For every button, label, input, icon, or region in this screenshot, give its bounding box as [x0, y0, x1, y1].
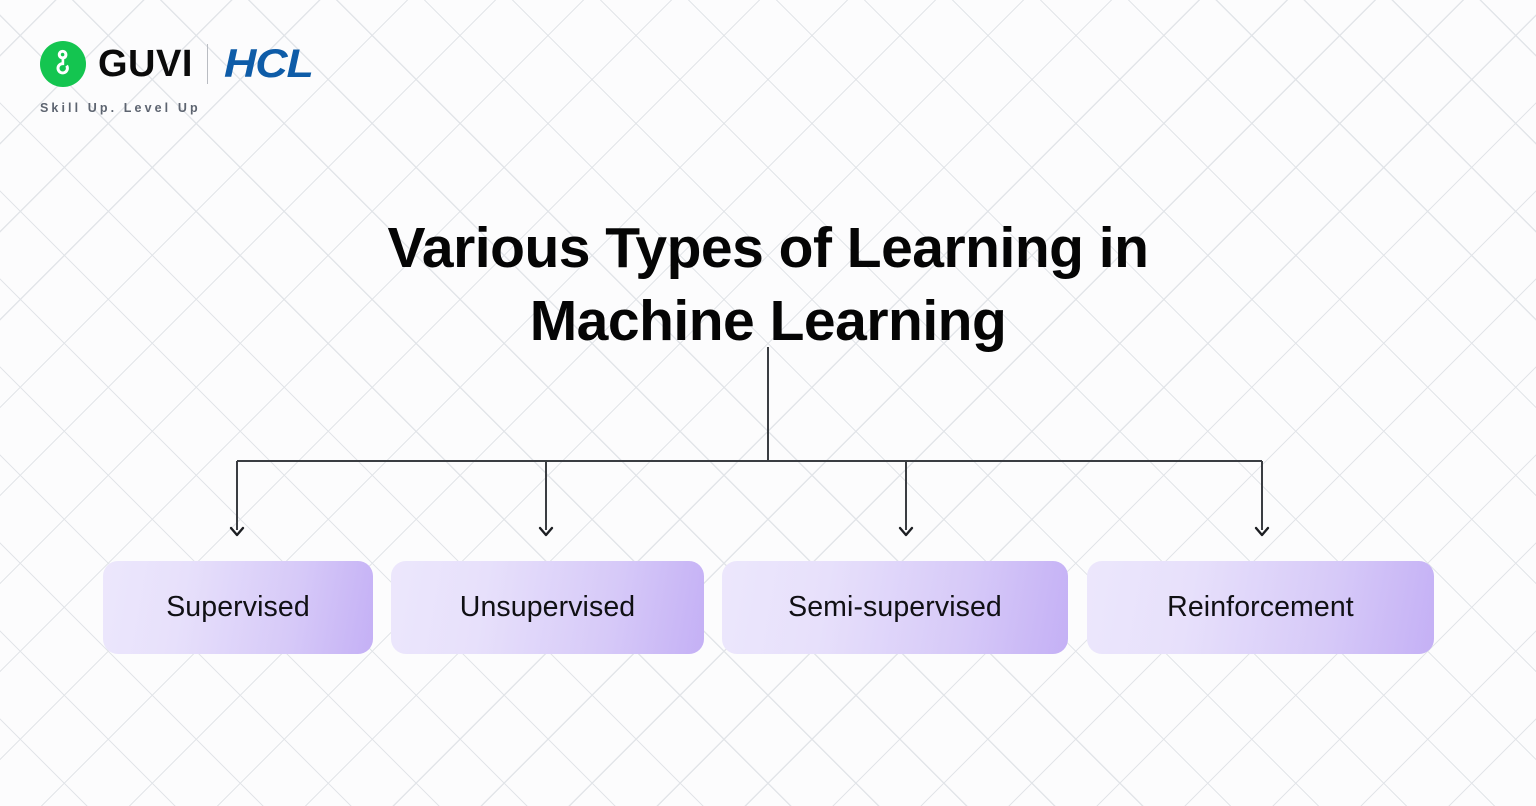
category-box-supervised[interactable]: Supervised [103, 561, 373, 654]
guvi-wordmark: GUVI [98, 45, 193, 83]
arrowhead-icon-0 [231, 528, 243, 535]
brand-tagline: Skill Up. Level Up [40, 101, 460, 115]
brand-header: GUVI HCL Skill Up. Level Up [40, 40, 460, 115]
page-title: Various Types of Learning in Machine Lea… [0, 212, 1536, 357]
category-box-reinforcement[interactable]: Reinforcement [1087, 561, 1434, 654]
category-box-unsupervised[interactable]: Unsupervised [391, 561, 704, 654]
hcl-wordmark: HCL [224, 44, 313, 84]
arrowhead-icon-2 [900, 528, 912, 535]
page-title-line-1: Various Types of Learning in [388, 216, 1149, 280]
brand-divider [207, 44, 209, 84]
slide-canvas: GUVI HCL Skill Up. Level Up Various Type… [0, 0, 1536, 806]
connector-diagram [0, 0, 1536, 806]
category-box-semi-supervised[interactable]: Semi-supervised [722, 561, 1068, 654]
category-label: Supervised [166, 591, 310, 624]
arrowhead-icon-3 [1256, 528, 1268, 535]
category-label: Semi-supervised [788, 591, 1002, 624]
category-label: Unsupervised [460, 591, 635, 624]
guvi-circle-g-icon [40, 41, 86, 87]
category-label: Reinforcement [1167, 591, 1354, 624]
arrowhead-icon-1 [540, 528, 552, 535]
page-title-line-2: Machine Learning [530, 289, 1007, 353]
background-crosshatch-pattern [0, 0, 1536, 806]
brand-logo-row: GUVI HCL [40, 40, 460, 88]
